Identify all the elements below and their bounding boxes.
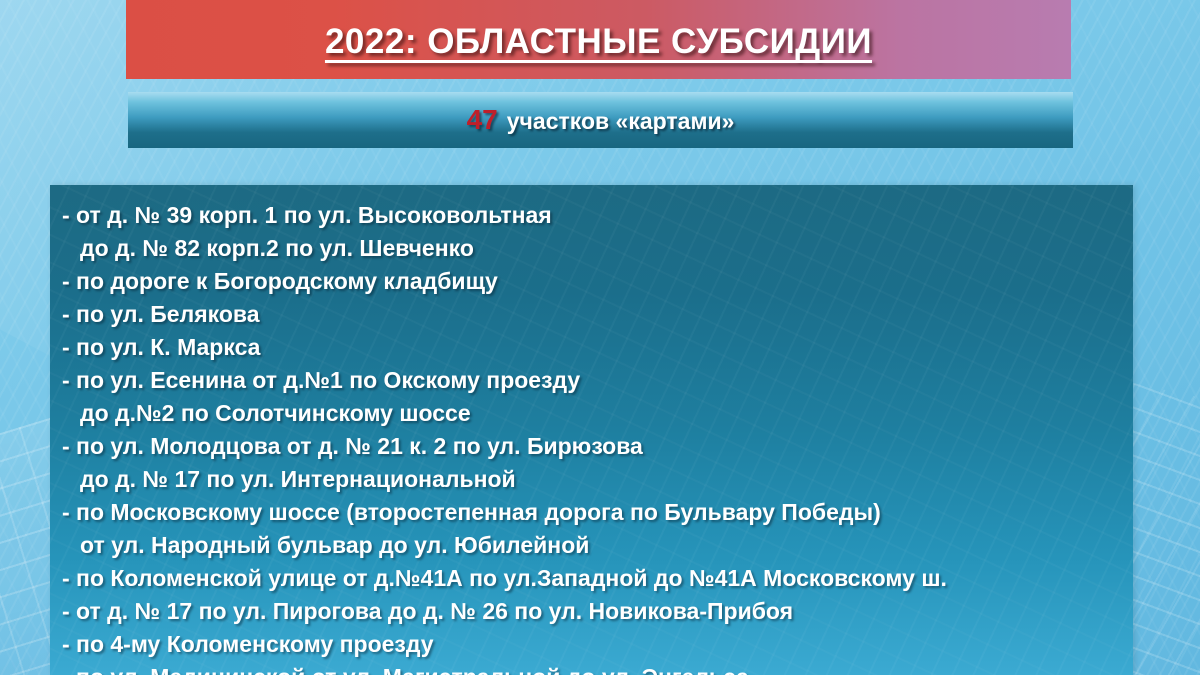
subtitle-bar: 47 участков «картами»	[128, 92, 1073, 148]
list-item: - по Московскому шоссе (второстепенная д…	[62, 496, 1133, 529]
list-item: до д. № 17 по ул. Интернациональной	[62, 463, 1133, 496]
page-title: 2022: ОБЛАСТНЫЕ СУБСИДИИ	[325, 18, 872, 62]
list-item: до д.№2 по Солотчинскому шоссе	[62, 397, 1133, 430]
list-item: - по дороге к Богородскому кладбищу	[62, 265, 1133, 298]
list-item: - от д. № 17 по ул. Пирогова до д. № 26 …	[62, 595, 1133, 628]
list-item: - по ул. Белякова	[62, 298, 1133, 331]
list-item: - по ул. Медицинской от ул. Магистрально…	[62, 661, 1133, 675]
slide-root: 2022: ОБЛАСТНЫЕ СУБСИДИИ 47 участков «ка…	[0, 0, 1200, 675]
plot-count-value: 47	[467, 104, 498, 136]
list-item: - по ул. Есенина от д.№1 по Окскому прое…	[62, 364, 1133, 397]
content-panel: - от д. № 39 корп. 1 по ул. Высоковольтн…	[50, 185, 1133, 675]
street-list: - от д. № 39 корп. 1 по ул. Высоковольтн…	[50, 185, 1133, 675]
list-item: - по 4-му Коломенскому проезду	[62, 628, 1133, 661]
list-item: - по ул. К. Маркса	[62, 331, 1133, 364]
subtitle: 47 участков «картами»	[467, 104, 735, 136]
list-item: от ул. Народный бульвар до ул. Юбилейной	[62, 529, 1133, 562]
list-item: - от д. № 39 корп. 1 по ул. Высоковольтн…	[62, 199, 1133, 232]
title-bar: 2022: ОБЛАСТНЫЕ СУБСИДИИ	[126, 0, 1071, 79]
list-item: - по ул. Молодцова от д. № 21 к. 2 по ул…	[62, 430, 1133, 463]
list-item: - по Коломенской улице от д.№41А по ул.З…	[62, 562, 1133, 595]
list-item: до д. № 82 корп.2 по ул. Шевченко	[62, 232, 1133, 265]
subtitle-label: участков «картами»	[507, 108, 735, 135]
